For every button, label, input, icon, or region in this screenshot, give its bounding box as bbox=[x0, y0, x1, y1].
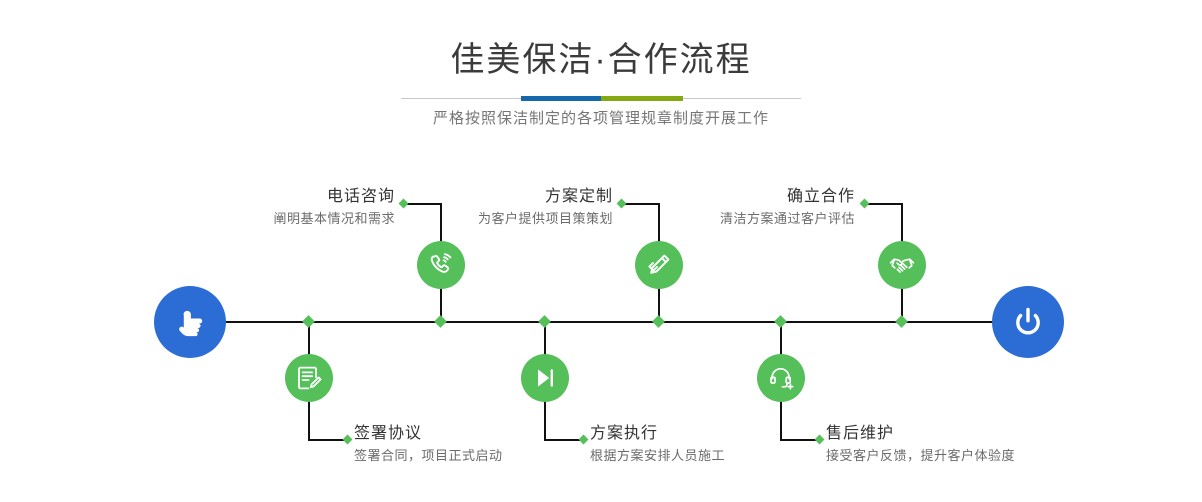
axis-marker-diamond bbox=[538, 315, 551, 328]
timeline-end-node bbox=[992, 286, 1064, 358]
axis-marker-diamond bbox=[895, 315, 908, 328]
step-label-block: 售后维护 接受客户反馈，提升客户体验度 bbox=[826, 423, 1156, 467]
timeline-start-node bbox=[154, 286, 226, 358]
label-marker-diamond bbox=[860, 199, 870, 209]
page-title: 佳美保洁·合作流程 bbox=[0, 38, 1202, 82]
step-icon-badge[interactable] bbox=[635, 241, 683, 289]
power-icon bbox=[1008, 302, 1048, 342]
step-title: 售后维护 bbox=[826, 423, 1156, 445]
step-icon-badge[interactable] bbox=[285, 354, 333, 402]
phone-call-icon bbox=[427, 251, 455, 279]
handshake-icon bbox=[888, 251, 916, 279]
step-label-block: 方案定制 为客户提供项目策策划 bbox=[368, 186, 613, 230]
step-label-block: 电话咨询 阐明基本情况和需求 bbox=[150, 186, 395, 230]
connector-horizontal bbox=[867, 203, 903, 205]
axis-marker-diamond bbox=[774, 315, 787, 328]
connector-horizontal bbox=[780, 439, 818, 441]
page-subtitle: 严格按照保洁制定的各项管理规章制度开展工作 bbox=[0, 107, 1202, 131]
axis-marker-diamond bbox=[652, 315, 665, 328]
divider-segment-blue bbox=[521, 96, 601, 101]
step-description: 阐明基本情况和需求 bbox=[150, 208, 395, 230]
step-icon-badge[interactable] bbox=[521, 354, 569, 402]
step-label-block: 确立合作 清洁方案通过客户评估 bbox=[610, 186, 855, 230]
connector-horizontal bbox=[308, 439, 346, 441]
label-marker-diamond bbox=[343, 435, 353, 445]
axis-marker-diamond bbox=[434, 315, 447, 328]
divider-segment-olive bbox=[601, 96, 683, 101]
pencil-edit-icon bbox=[645, 251, 673, 279]
step-title: 电话咨询 bbox=[150, 186, 395, 208]
step-description: 清洁方案通过客户评估 bbox=[610, 208, 855, 230]
step-icon-badge[interactable] bbox=[878, 241, 926, 289]
sign-document-icon bbox=[295, 364, 323, 392]
pointing-hand-icon bbox=[170, 302, 210, 342]
customer-support-icon bbox=[767, 364, 795, 392]
step-description: 接受客户反馈，提升客户体验度 bbox=[826, 445, 1156, 467]
step-icon-badge[interactable] bbox=[757, 354, 805, 402]
play-step-icon bbox=[531, 364, 559, 392]
connector-horizontal bbox=[406, 203, 442, 205]
axis-marker-diamond bbox=[302, 315, 315, 328]
step-icon-badge[interactable] bbox=[417, 241, 465, 289]
connector-horizontal bbox=[544, 439, 582, 441]
connector-horizontal bbox=[624, 203, 660, 205]
flow-diagram-page: 佳美保洁·合作流程 严格按照保洁制定的各项管理规章制度开展工作 bbox=[0, 0, 1202, 502]
step-description: 为客户提供项目策策划 bbox=[368, 208, 613, 230]
title-divider bbox=[401, 96, 801, 102]
